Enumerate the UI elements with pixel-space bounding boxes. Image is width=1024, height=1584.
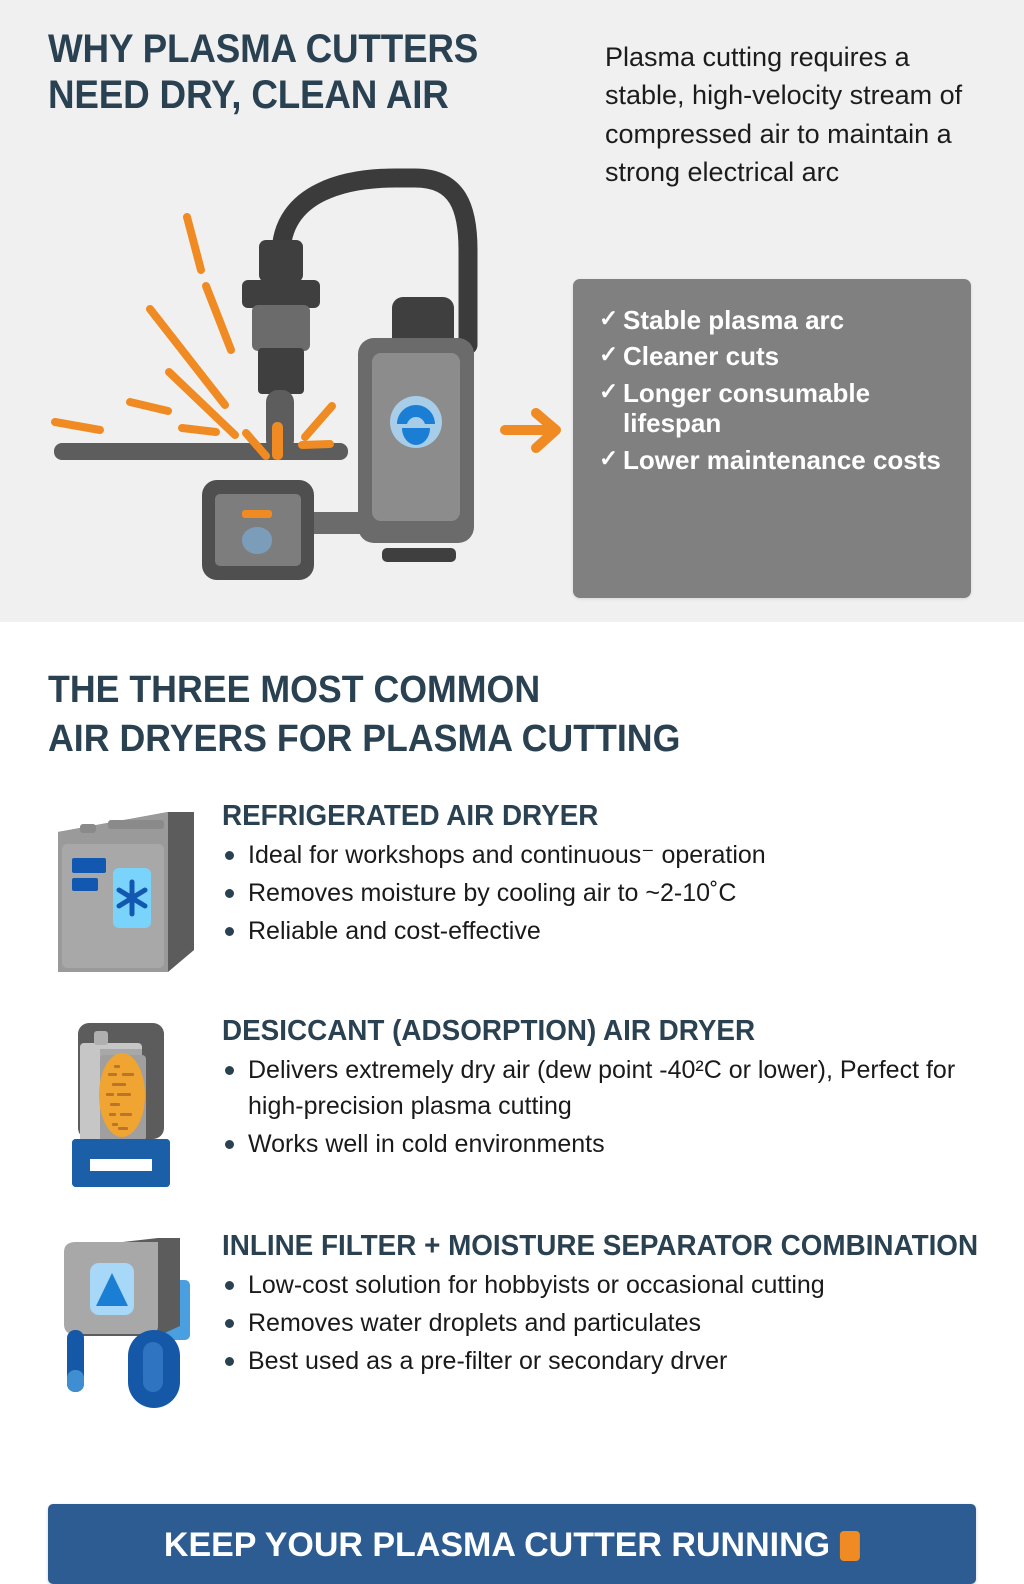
page-title-line-2: NEED DRY, CLEAN AIR	[48, 72, 536, 118]
plasma-torch-icon	[242, 240, 320, 452]
page-title-line-1: WHY PLASMA CUTTERS	[48, 26, 536, 72]
list-item: Low-cost solution for hobbyists or occas…	[222, 1267, 1012, 1303]
banner-accent-chip-icon	[840, 1531, 860, 1561]
cta-banner-content: KEEP YOUR PLASMA CUTTER RUNNING	[164, 1526, 860, 1565]
dryer-text-block: REFRIGERATED AIR DRYER Ideal for worksho…	[222, 800, 1012, 951]
section-title-line-1: THE THREE MOST COMMON	[48, 666, 680, 715]
benefits-card: ✓ Stable plasma arc ✓ Cleaner cuts ✓ Lon…	[573, 279, 971, 598]
inline-filter-separator-icon	[50, 1230, 210, 1410]
section-title: THE THREE MOST COMMON AIR DRYERS FOR PLA…	[48, 666, 680, 763]
benefit-item: ✓ Lower maintenance costs	[573, 445, 971, 475]
list-item: Best used as a pre-filter or secondary d…	[222, 1343, 1012, 1379]
list-item: Delivers extremely dry air (dew point -4…	[222, 1052, 1012, 1124]
hero-section: WHY PLASMA CUTTERS NEED DRY, CLEAN AIR P…	[0, 0, 1024, 622]
hero-intro-paragraph: Plasma cutting requires a stable, high-v…	[605, 38, 985, 191]
refrigerated-dryer-icon	[46, 800, 206, 980]
plasma-cutter-illustration	[50, 160, 570, 610]
check-icon: ✓	[599, 305, 623, 333]
cta-banner[interactable]: KEEP YOUR PLASMA CUTTER RUNNING	[48, 1504, 976, 1584]
dryer-entry-desiccant: DESICCANT (ADSORPTION) AIR DRYER Deliver…	[0, 1015, 1024, 1230]
benefit-label: Longer consumable lifespan	[623, 378, 955, 439]
list-item: Removes water droplets and particulates	[222, 1305, 1012, 1341]
list-item: Reliable and cost-effective	[222, 913, 1012, 949]
cta-banner-label: KEEP YOUR PLASMA CUTTER RUNNING	[164, 1526, 830, 1565]
benefit-label: Lower maintenance costs	[623, 445, 955, 475]
dryer-bullet-list: Ideal for workshops and continuous⁻ oper…	[222, 837, 1012, 949]
dryer-text-block: INLINE FILTER + MOISTURE SEPARATOR COMBI…	[222, 1230, 1012, 1381]
check-icon: ✓	[599, 378, 623, 406]
dryer-bullet-list: Delivers extremely dry air (dew point -4…	[222, 1052, 1012, 1162]
benefit-label: Stable plasma arc	[623, 305, 955, 335]
benefit-item: ✓ Longer consumable lifespan	[573, 378, 971, 439]
section-title-line-2: AIR DRYERS FOR PLASMA CUTTING	[48, 715, 680, 764]
list-item: Works well in cold environments	[222, 1126, 1012, 1162]
benefit-label: Cleaner cuts	[623, 341, 955, 371]
dryer-heading: DESICCANT (ADSORPTION) AIR DRYER	[222, 1015, 980, 1047]
cutting-arc-icon	[272, 422, 283, 460]
dryers-section: THE THREE MOST COMMON AIR DRYERS FOR PLA…	[0, 622, 1024, 1536]
dryer-entry-refrigerated: REFRIGERATED AIR DRYER Ideal for worksho…	[0, 800, 1024, 1015]
page-title: WHY PLASMA CUTTERS NEED DRY, CLEAN AIR	[48, 26, 536, 118]
list-item: Removes moisture by cooling air to ~2-10…	[222, 875, 1012, 911]
check-icon: ✓	[599, 445, 623, 473]
air-compressor-unit-icon	[358, 297, 474, 562]
dryer-heading: INLINE FILTER + MOISTURE SEPARATOR COMBI…	[222, 1230, 980, 1262]
dryer-heading: REFRIGERATED AIR DRYER	[222, 800, 980, 832]
check-icon: ✓	[599, 341, 623, 369]
benefit-item: ✓ Cleaner cuts	[573, 341, 971, 371]
desiccant-dryer-icon	[56, 1015, 216, 1195]
right-arrow-icon	[505, 413, 556, 448]
list-item: Ideal for workshops and continuous⁻ oper…	[222, 837, 1012, 873]
dryer-entry-inline-filter: INLINE FILTER + MOISTURE SEPARATOR COMBI…	[0, 1230, 1024, 1460]
connector-pipe-icon	[306, 512, 368, 534]
dryer-bullet-list: Low-cost solution for hobbyists or occas…	[222, 1267, 1012, 1379]
air-dryer-box-icon	[202, 480, 314, 580]
benefit-item: ✓ Stable plasma arc	[573, 279, 971, 335]
dryer-text-block: DESICCANT (ADSORPTION) AIR DRYER Deliver…	[222, 1015, 1012, 1164]
